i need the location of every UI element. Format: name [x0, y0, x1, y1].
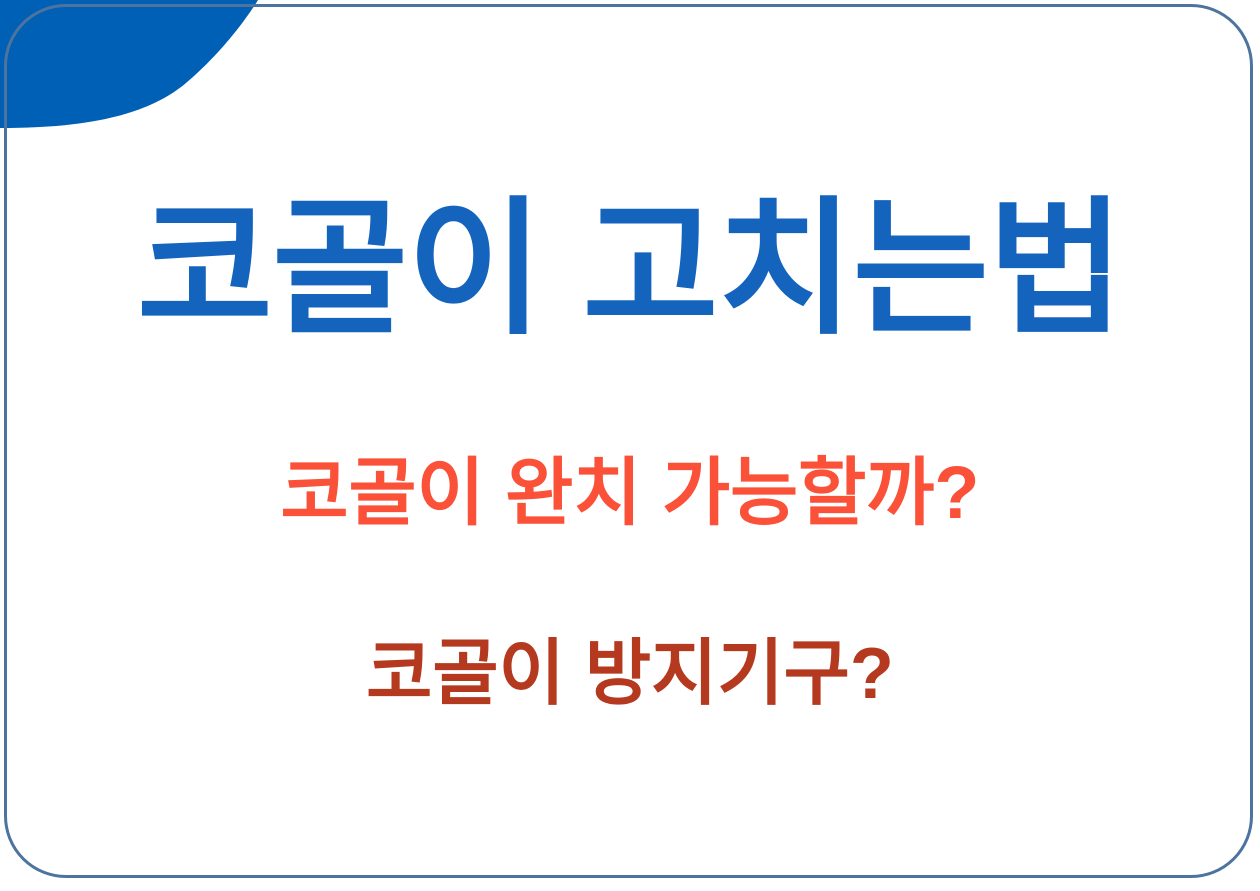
- page-title: 코골이 고치는법: [137, 196, 1123, 344]
- subheading-question-cure: 코골이 완치 가능할까?: [280, 456, 979, 530]
- text-block: 코골이 고치는법 코골이 완치 가능할까? 코골이 방지기구?: [0, 0, 1260, 891]
- subheading-question-device: 코골이 방지기구?: [366, 638, 894, 710]
- slide-card: 코골이 고치는법 코골이 완치 가능할까? 코골이 방지기구?: [0, 0, 1260, 891]
